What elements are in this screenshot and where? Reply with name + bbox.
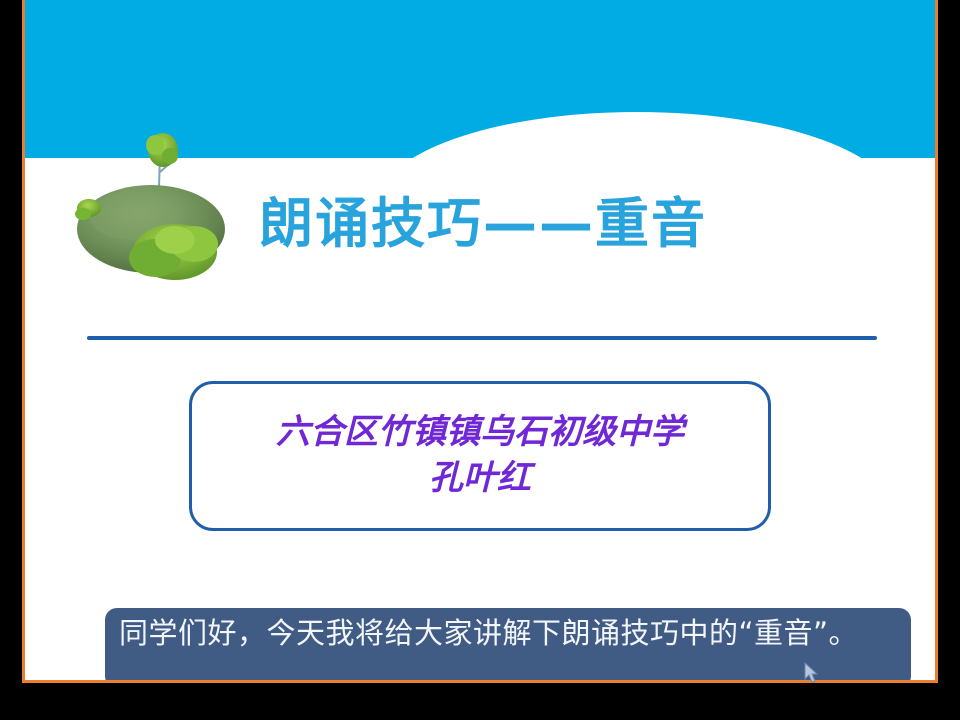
video-letterbox-frame: 朗诵技巧——重音 六合区竹镇镇乌石初级中学 孔叶红 同学们好，今天我将给大家讲解… [0,0,960,720]
page-title: 朗诵技巧——重音 [25,196,938,253]
caption-text: 同学们好，今天我将给大家讲解下朗诵技巧中的“重音”。 [119,614,899,653]
presentation-slide: 朗诵技巧——重音 六合区竹镇镇乌石初级中学 孔叶红 同学们好，今天我将给大家讲解… [22,0,938,683]
caption-overlay: 同学们好，今天我将给大家讲解下朗诵技巧中的“重音”。 [105,608,911,683]
mouse-pointer-icon [804,662,820,684]
presenter-name: 孔叶红 [429,456,531,502]
author-info-box: 六合区竹镇镇乌石初级中学 孔叶红 [189,381,771,531]
school-name: 六合区竹镇镇乌石初级中学 [276,410,684,456]
title-divider [87,336,877,340]
